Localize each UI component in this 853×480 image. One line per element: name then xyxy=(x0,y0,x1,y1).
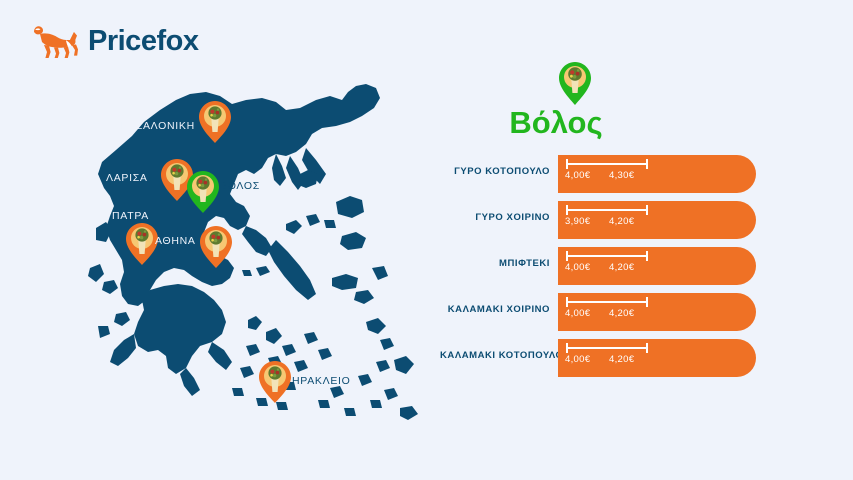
price-min: 4,00€ xyxy=(565,308,590,319)
price-max: 4,30€ xyxy=(609,170,634,181)
map-pin-irakleio[interactable] xyxy=(258,360,292,404)
price-row-label: ΜΠΙΦΤΕΚΙ xyxy=(440,258,550,269)
map-label-athina: ΑΘΗΝΑ xyxy=(155,235,196,247)
price-row-label: ΚΑΛΑΜΑΚΙ ΚΟΤΟΠΟΥΛΟ xyxy=(440,350,550,361)
price-min: 4,00€ xyxy=(565,354,590,365)
map-pin-athina[interactable] xyxy=(199,225,233,269)
map-label-volos: ΒΟΛΟΣ xyxy=(220,180,260,192)
detail-gyros-pin-icon xyxy=(558,61,592,106)
fox-icon xyxy=(30,22,78,60)
map-pin-patra[interactable] xyxy=(125,222,159,266)
price-max: 4,20€ xyxy=(609,262,634,273)
map-label-irakleio: ΗΡΑΚΛΕΙΟ xyxy=(292,375,351,387)
greece-map-panel: ΘΕΣΣΑΛΟΝΙΚΗ ΛΑΡΙΣΑ ΒΟΛΟΣ xyxy=(80,70,440,460)
map-label-larisa: ΛΑΡΙΣΑ xyxy=(106,172,148,184)
price-max: 4,20€ xyxy=(609,308,634,319)
price-range-indicator xyxy=(566,347,648,349)
price-bar: 4,00€ 4,30€ xyxy=(558,155,756,193)
price-bar: 4,00€ 4,20€ xyxy=(558,247,756,285)
price-row[interactable]: ΓΥΡΟ ΚΟΤΟΠΟΥΛΟ 4,00€ 4,30€ xyxy=(440,155,820,193)
price-row[interactable]: ΚΑΛΑΜΑΚΙ ΧΟΙΡΙΝΟ 4,00€ 4,20€ xyxy=(440,293,820,331)
price-bar: 4,00€ 4,20€ xyxy=(558,339,756,377)
price-max: 4,20€ xyxy=(609,354,634,365)
price-max: 4,20€ xyxy=(609,216,634,227)
price-min: 4,00€ xyxy=(565,170,590,181)
price-row[interactable]: ΚΑΛΑΜΑΚΙ ΚΟΤΟΠΟΥΛΟ 4,00€ 4,20€ xyxy=(440,339,820,377)
map-pin-volos[interactable] xyxy=(186,170,220,214)
price-row[interactable]: ΓΥΡΟ ΧΟΙΡΙΝΟ 3,90€ 4,20€ xyxy=(440,201,820,239)
price-range-indicator xyxy=(566,209,648,211)
price-bar: 4,00€ 4,20€ xyxy=(558,293,756,331)
price-range-indicator xyxy=(566,301,648,303)
brand-name: Pricefox xyxy=(88,27,198,56)
price-row-label: ΓΥΡΟ ΧΟΙΡΙΝΟ xyxy=(440,212,550,223)
city-detail-panel: Βόλος ΓΥΡΟ ΚΟΤΟΠΟΥΛΟ 4,00€ 4,30€ ΓΥΡΟ ΧΟ… xyxy=(440,55,820,375)
detail-city-title: Βόλος xyxy=(440,107,672,138)
brand-logo[interactable]: Pricefox xyxy=(30,22,198,60)
map-label-patra: ΠΑΤΡΑ xyxy=(112,210,149,222)
price-min: 4,00€ xyxy=(565,262,590,273)
price-row[interactable]: ΜΠΙΦΤΕΚΙ 4,00€ 4,20€ xyxy=(440,247,820,285)
price-bar: 3,90€ 4,20€ xyxy=(558,201,756,239)
price-row-label: ΚΑΛΑΜΑΚΙ ΧΟΙΡΙΝΟ xyxy=(440,304,550,315)
price-range-indicator xyxy=(566,163,648,165)
map-pin-thessaloniki[interactable] xyxy=(198,100,232,144)
price-min: 3,90€ xyxy=(565,216,590,227)
map-label-thessaloniki: ΘΕΣΣΑΛΟΝΙΚΗ xyxy=(112,120,195,132)
price-range-indicator xyxy=(566,255,648,257)
price-row-label: ΓΥΡΟ ΚΟΤΟΠΟΥΛΟ xyxy=(440,166,550,177)
